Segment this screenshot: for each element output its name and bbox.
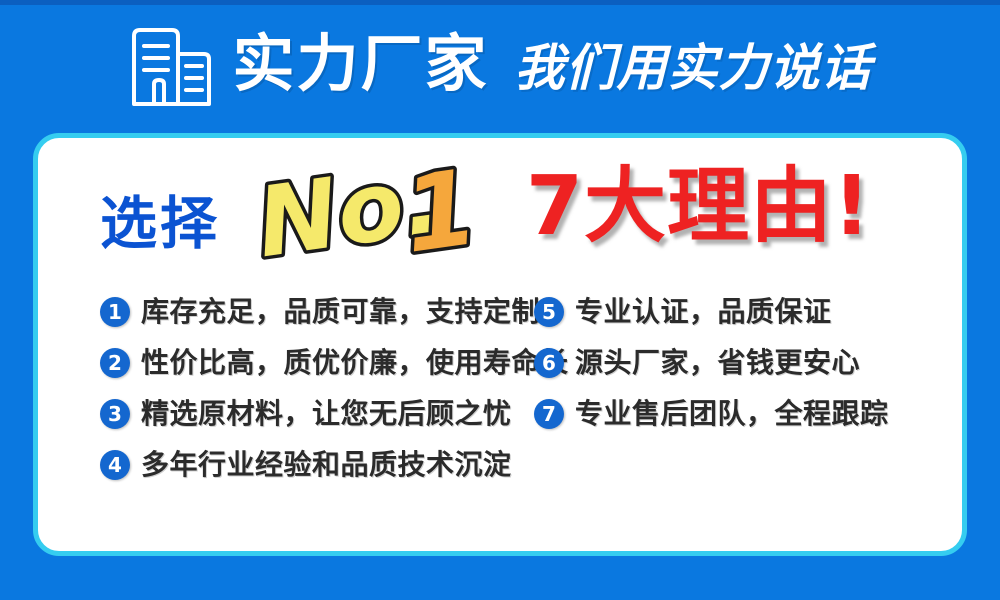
building-icon [128,24,214,108]
list-item: 2 性价比高，质优价廉，使用寿命长 [100,337,508,388]
card-title-row: 选择 No. 1 7大理由! [38,144,962,284]
company-subtitle: 我们用实力说话 [515,43,872,93]
reason-badge: 2 [100,348,130,378]
reason-badge: 7 [534,399,564,429]
list-item: 1 库存充足，品质可靠，支持定制 [100,286,508,337]
no1-graphic: No. 1 [254,154,474,279]
reason-badge: 6 [534,348,564,378]
header-text-group: 实力厂家 我们用实力说话 [232,33,871,95]
list-item: 4 多年行业经验和品质技术沉淀 [100,439,508,490]
choose-label: 选择 [100,196,220,253]
reason-text: 库存充足，品质可靠，支持定制 [141,298,540,326]
reason-text: 多年行业经验和品质技术沉淀 [141,451,512,479]
reason-badge: 1 [100,297,130,327]
reason-lists: 1 库存充足，品质可靠，支持定制 2 性价比高，质优价廉，使用寿命长 3 精选原… [38,286,962,490]
reason-badge: 5 [534,297,564,327]
reasons-headline: 7大理由! [526,156,871,259]
reason-text: 性价比高，质优价廉，使用寿命长 [141,349,569,377]
company-main-title: 实力厂家 [232,33,488,95]
content-card: 选择 No. 1 7大理由! 1 库存充足，品质可靠，支持定制 2 性价比高，质… [33,133,967,556]
reason-text: 源头厂家，省钱更安心 [575,349,860,377]
reason-badge: 4 [100,450,130,480]
reason-text: 精选原材料，让您无后顾之忧 [141,400,512,428]
promo-banner: 实力厂家 我们用实力说话 选择 No. 1 7大理由! 1 库存充足，品质可靠，… [0,0,1000,600]
reason-text: 专业认证，品质保证 [575,298,832,326]
reason-column-right: 5 专业认证，品质保证 6 源头厂家，省钱更安心 7 专业售后团队，全程跟踪 [508,286,962,490]
list-item: 5 专业认证，品质保证 [534,286,962,337]
list-item: 7 专业售后团队，全程跟踪 [534,388,962,439]
list-item: 6 源头厂家，省钱更安心 [534,337,962,388]
list-item: 3 精选原材料，让您无后顾之忧 [100,388,508,439]
reason-text: 专业售后团队，全程跟踪 [575,400,889,428]
reason-column-left: 1 库存充足，品质可靠，支持定制 2 性价比高，质优价廉，使用寿命长 3 精选原… [38,286,508,490]
banner-header: 实力厂家 我们用实力说话 [0,5,1000,123]
reason-badge: 3 [100,399,130,429]
